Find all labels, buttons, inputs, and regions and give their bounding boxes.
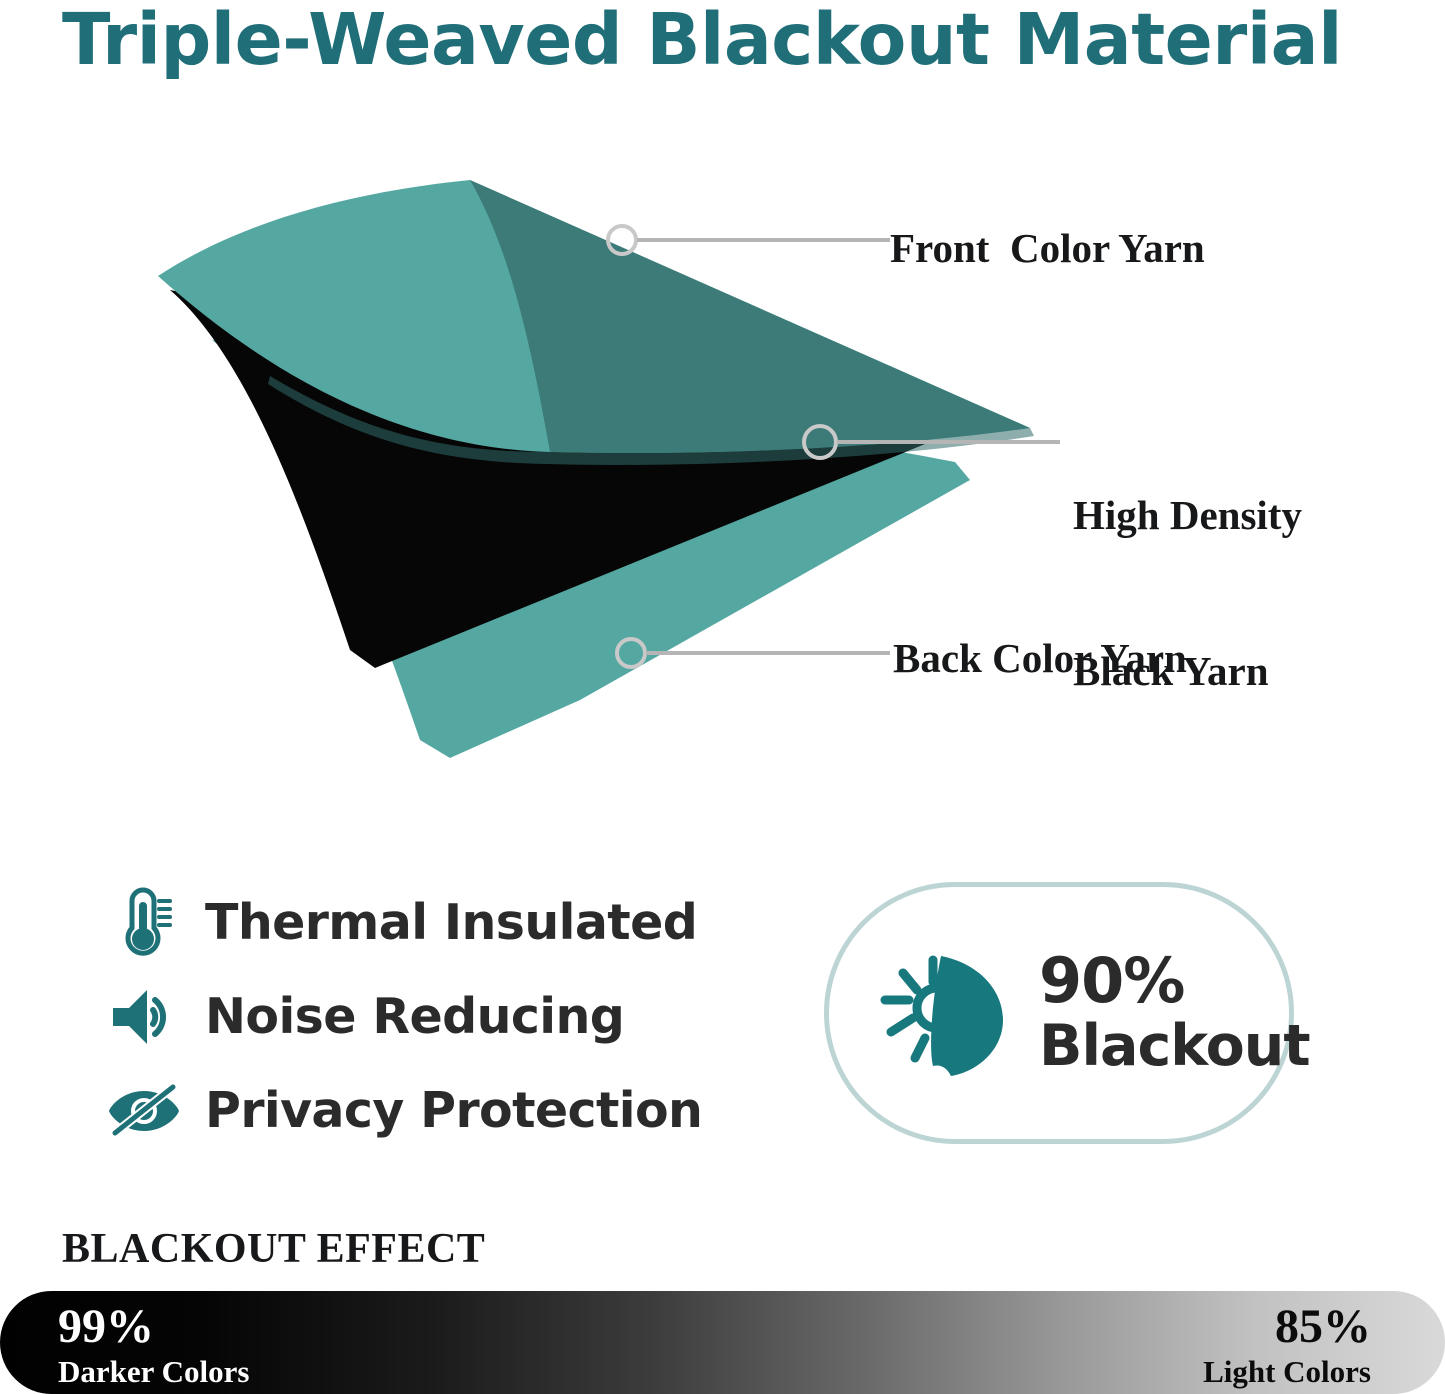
feature-label: Thermal Insulated (205, 894, 697, 952)
front-callout-leader (608, 226, 890, 254)
feature-list: Thermal Insulated Noise Reducing (105, 876, 785, 1158)
speaker-icon (105, 978, 183, 1056)
front-color-yarn-fold (470, 180, 1030, 453)
callout-line-1: High Density (1073, 489, 1302, 541)
page-title: Triple-Weaved Blackout Material (62, 0, 1402, 82)
darker-label: Darker Colors (58, 1354, 249, 1390)
infographic-page: Triple-Weaved Blackout Material (0, 0, 1445, 1394)
light-label: Light Colors (1203, 1354, 1371, 1390)
badge-word: Blackout (1039, 1014, 1310, 1078)
sun-blackout-icon (871, 938, 1021, 1088)
callout-back-color-yarn: Back Color Yarn (893, 632, 1187, 684)
callout-front-color-yarn: Front Color Yarn (890, 222, 1205, 274)
darker-percent: 99% (58, 1300, 249, 1354)
thermometer-icon (105, 884, 183, 962)
light-percent: 85% (1203, 1300, 1371, 1354)
blackout-percentage-badge: 90% Blackout (824, 882, 1294, 1144)
feature-label: Privacy Protection (205, 1082, 702, 1140)
blackout-effect-light-group: 85% Light Colors (1203, 1300, 1371, 1390)
badge-text: 90% Blackout (1039, 948, 1310, 1078)
callout-high-density-black-yarn: High Density Black Yarn (1073, 385, 1302, 801)
blackout-effect-darker-group: 99% Darker Colors (58, 1300, 249, 1390)
feature-item-thermal-insulated: Thermal Insulated (105, 876, 785, 970)
eye-off-icon (105, 1072, 183, 1150)
feature-item-privacy-protection: Privacy Protection (105, 1064, 785, 1158)
badge-percent: 90% (1039, 948, 1310, 1014)
blackout-effect-title: BLACKOUT EFFECT (62, 1225, 485, 1273)
feature-item-noise-reducing: Noise Reducing (105, 970, 785, 1064)
feature-label: Noise Reducing (205, 988, 624, 1046)
